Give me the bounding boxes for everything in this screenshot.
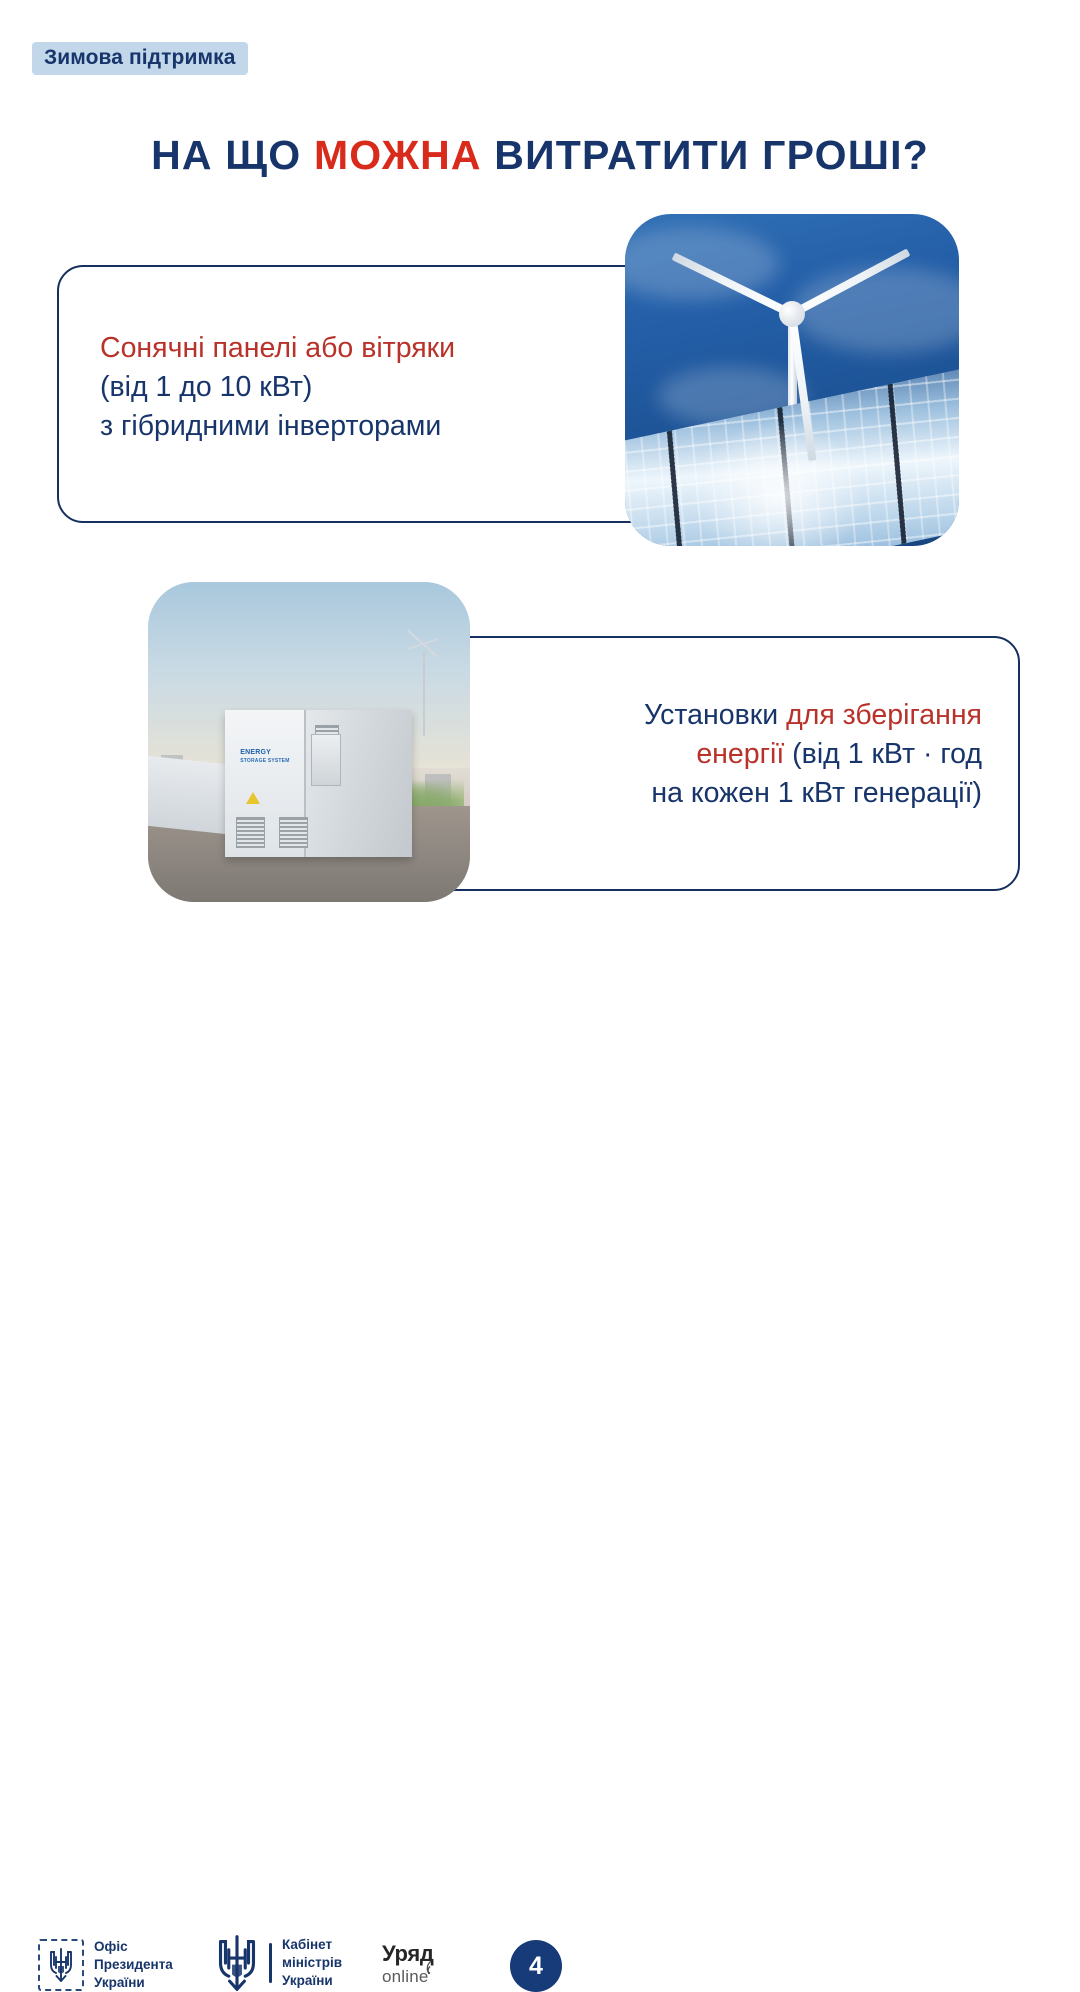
card-energy-storage-highlight-a: для зберігання: [786, 699, 982, 731]
logo-cabinet-of-ministers: Кабінет міністрів України: [215, 1935, 342, 1991]
card-energy-storage-highlight-b: енергії: [696, 738, 784, 770]
card-solar-panels-text: Сонячні панелі або вітряки (від 1 до 10 …: [100, 329, 455, 446]
logo-cabinet-of-ministers-text: Кабінет міністрів України: [282, 1936, 342, 1990]
card-solar-panels-line-2: (від 1 до 10 кВт): [100, 368, 455, 407]
page-title-highlight: МОЖНА: [314, 132, 482, 178]
card-energy-storage-tail-a: (від 1 кВт · год: [784, 738, 982, 770]
card-solar-panels-line-3: з гібридними інверторами: [100, 407, 455, 446]
logo-president-line-2: Президента: [94, 1956, 173, 1974]
storage-container-body: ENERGY STORAGE SYSTEM: [225, 710, 412, 857]
vent-grille: [279, 817, 307, 848]
small-turbine-blades: [408, 629, 438, 659]
vent-grille: [236, 817, 264, 848]
logo-cabinet-line-2: міністрів: [282, 1954, 342, 1972]
logo-office-of-the-president: Офіс Президента України: [38, 1938, 173, 1992]
solar-panel-glare: [692, 420, 866, 546]
card-energy-storage-line-1: Установки для зберігання: [644, 696, 982, 735]
card-energy-storage-line-3: на кожен 1 кВт генерації): [644, 774, 982, 813]
energy-storage-container-photo: ENERGY STORAGE SYSTEM: [148, 582, 470, 902]
control-panel-box: [311, 734, 341, 786]
trident-framed-icon: [38, 1939, 84, 1991]
page-number-badge: 4: [510, 1940, 562, 1992]
logo-president-line-1: Офіс: [94, 1938, 173, 1956]
card-energy-storage-text: Установки для зберігання енергії (від 1 …: [644, 696, 982, 813]
card-solar-panels-headline: Сонячні панелі або вітряки: [100, 329, 455, 368]
logo-uriad-online-text: Уряд online: [382, 1943, 434, 1985]
logo-divider: [269, 1943, 272, 1983]
storage-brand-subword: STORAGE SYSTEM: [240, 758, 289, 765]
card-energy-storage-lead: Установки: [644, 699, 786, 731]
logo-uriad-online: Уряд online: [382, 1943, 434, 1985]
logo-office-of-the-president-text: Офіс Президента України: [94, 1938, 173, 1992]
logo-president-line-3: України: [94, 1974, 173, 1992]
trident-icon: [48, 1948, 74, 1982]
page-title: НА ЩО МОЖНА ВИТРАТИТИ ГРОШІ?: [0, 135, 1080, 176]
page-title-part-1: НА ЩО: [151, 132, 314, 178]
cloud-shape: [792, 267, 959, 353]
storage-brand-word: ENERGY: [240, 749, 271, 756]
small-turbine-mast: [423, 652, 425, 735]
footer: Офіс Президента України Кабінет міністрі…: [0, 950, 1080, 1080]
page-title-part-2: ВИТРАТИТИ ГРОШІ?: [482, 132, 929, 178]
card-energy-storage-line-2: енергії (від 1 кВт · год: [644, 735, 982, 774]
cloud-shape: [625, 227, 779, 300]
logo-cabinet-line-3: України: [282, 1972, 342, 1990]
logo-cabinet-line-1: Кабінет: [282, 1936, 342, 1954]
winter-support-tag: Зимова підтримка: [32, 42, 248, 75]
warning-triangle-icon: [246, 792, 260, 804]
trident-icon: [215, 1935, 259, 1991]
wind-turbine-photo: [625, 214, 959, 546]
storage-container-brand-label: ENERGY STORAGE SYSTEM: [240, 748, 289, 765]
winter-support-tag-label: Зимова підтримка: [44, 46, 236, 69]
turbine-hub: [779, 301, 805, 327]
